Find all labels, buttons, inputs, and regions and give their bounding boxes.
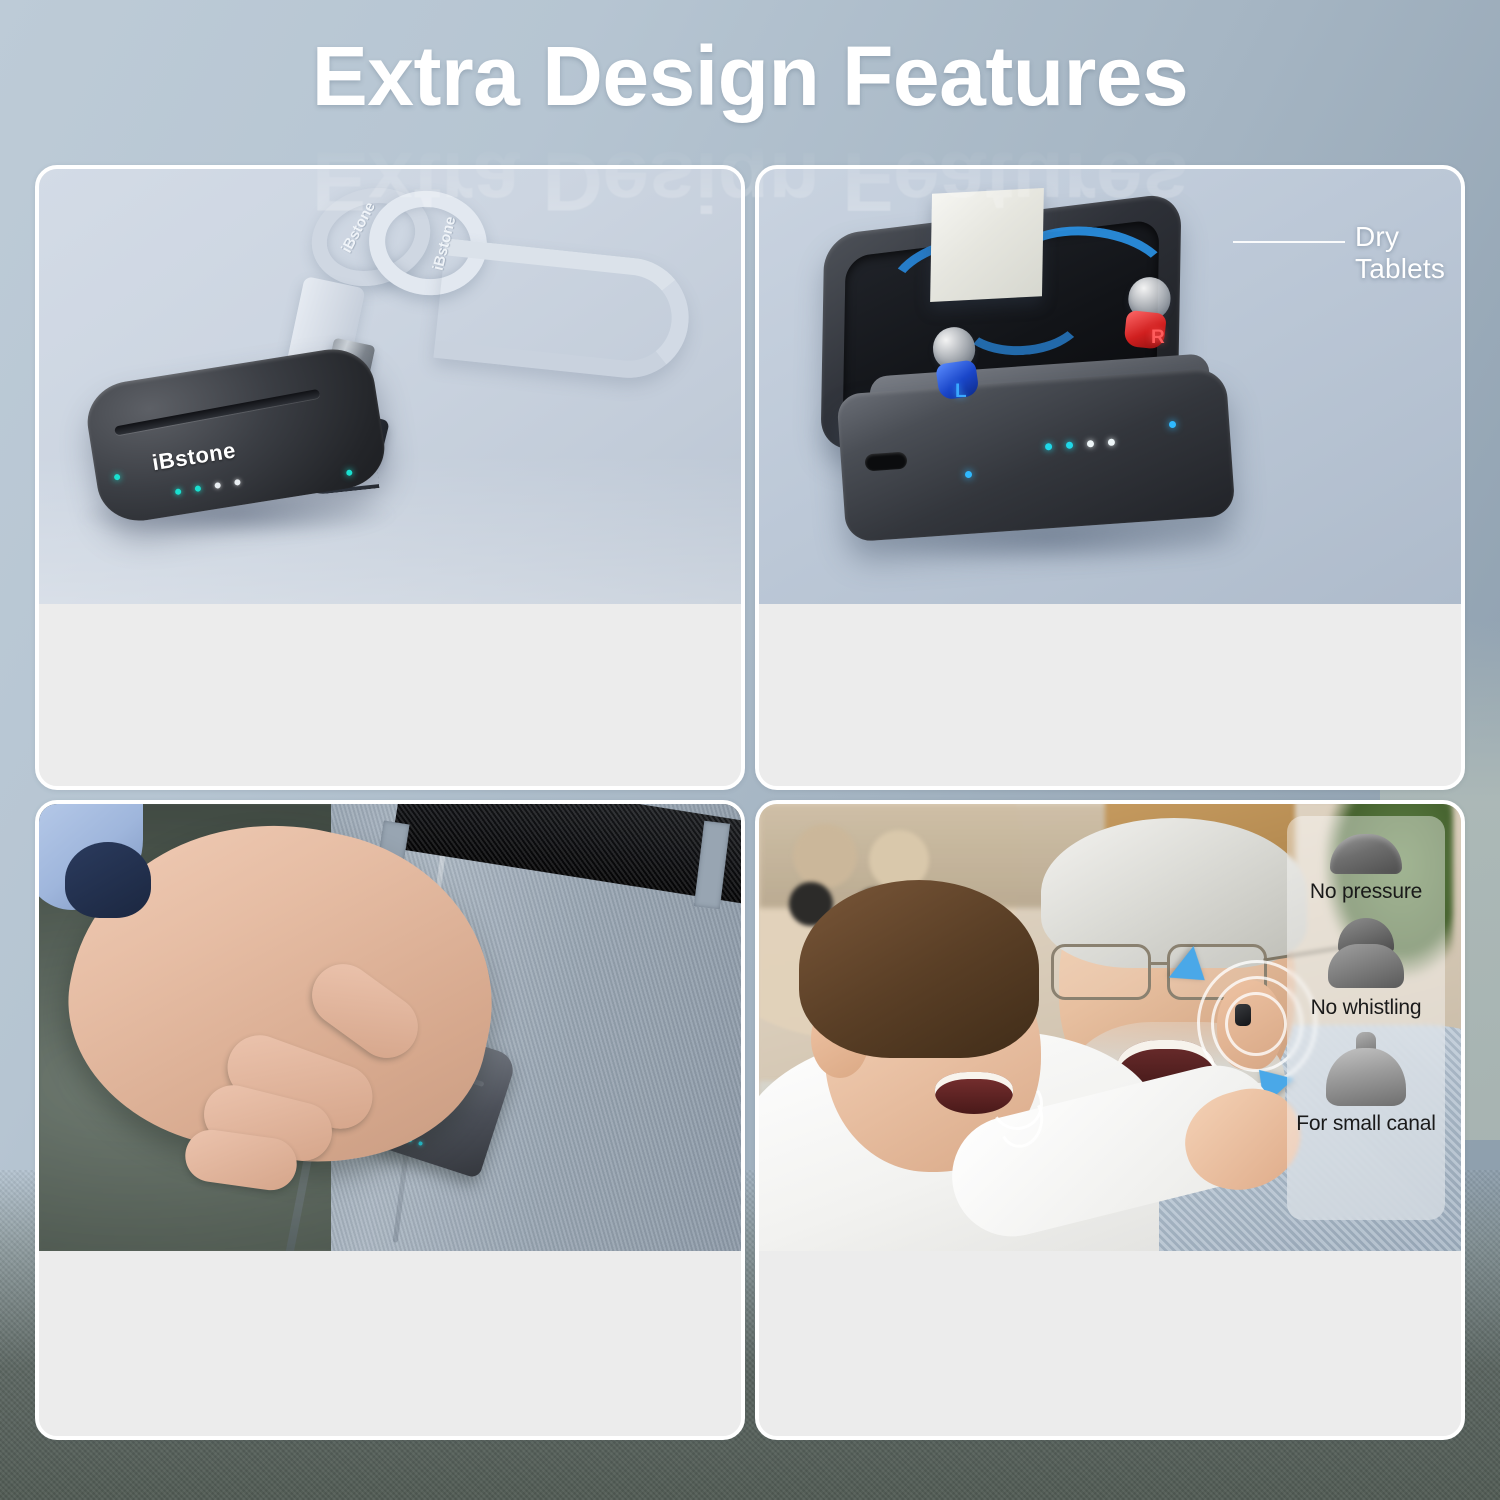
decor-object [793,824,857,888]
boy-hair [799,880,1039,1058]
card-caption: Built-in Dehumidifying Capsule Extent th… [759,604,1461,790]
feature-card-dehumidifying-capsule[interactable]: L R Dry Tablets Built-in Dehumidifying C… [755,165,1465,790]
case-led-row [175,479,241,495]
dry-tablet-pouch [930,188,1044,302]
card-caption: Portable Charging Case Small case, big p… [39,1251,741,1440]
strap-tail [433,238,694,383]
led-indicator [214,482,221,489]
led-indicator [418,1141,423,1146]
hearing-aid-right [1123,275,1172,350]
lens-left [1051,944,1151,1000]
feature-card-abundant-ear-domes[interactable]: No pressure No whistling [755,800,1465,1440]
led-indicator [1087,440,1094,447]
shirt-cuff-shadow [65,842,151,918]
dry-tablets-label: Dry Tablets [1355,221,1461,285]
led-indicator [194,485,201,492]
lifestyle-photo-pocket: iBst [39,804,741,1251]
card-caption: Anti-Lost Strap Never worry about losing [39,604,741,790]
led-indicator-front [965,471,972,478]
led-indicator-side [1169,421,1176,428]
left-channel-marker: L [955,381,967,403]
product-photo-strap: iBstone iBstone iBstone iBstone [39,169,741,604]
case-brand-logo: iBstone [150,437,237,476]
led-indicator-side [346,469,353,476]
led-indicator [1045,443,1052,450]
infographic-stage: Extra Design Features Extra Design Featu… [0,0,1500,1500]
dome-option-label: For small canal [1296,1112,1435,1136]
dome-option-label: No pressure [1310,880,1422,904]
feature-card-anti-lost-strap[interactable]: iBstone iBstone iBstone iBstone [35,165,745,790]
usb-c-port [864,452,907,472]
open-bell-dome-icon [1326,1032,1406,1106]
right-channel-marker: R [1151,327,1165,349]
dome-bell [1326,1048,1406,1106]
glasses-bridge [1151,962,1169,965]
dome-option-no-pressure: No pressure [1287,826,1445,912]
sound-ripple [1225,992,1287,1056]
ear-dome-options-panel: No pressure No whistling [1287,816,1445,1220]
led-indicator [1066,441,1073,448]
led-indicator [175,488,182,495]
dome-option-label: No whistling [1311,996,1422,1020]
worn-hearing-aid [1235,1004,1251,1026]
annotation-leader-line [1233,241,1345,243]
led-indicator [1108,439,1115,446]
led-indicator-side [114,474,121,481]
double-tulip-dome-icon [1328,918,1404,990]
page-title-block: Extra Design Features Extra Design Featu… [0,34,1500,154]
dome-lower-flange [1328,944,1404,988]
feature-card-grid: iBstone iBstone iBstone iBstone [35,165,1465,1450]
product-photo-capsule: L R Dry Tablets [759,169,1461,604]
lifestyle-photo-family: No pressure No whistling [759,804,1461,1251]
case-lid-seam [114,389,320,436]
led-indicator [234,479,241,486]
card-caption: Abundant Ear domes get your best fitting [759,1251,1461,1440]
closed-dome-icon [1330,834,1402,874]
page-title: Extra Design Features [0,34,1500,120]
dome-option-small-canal: For small canal [1287,1028,1445,1144]
feature-card-portable-charging-case[interactable]: iBst Portable Charging Case Small ca [35,800,745,1440]
dome-option-no-whistling: No whistling [1287,912,1445,1028]
